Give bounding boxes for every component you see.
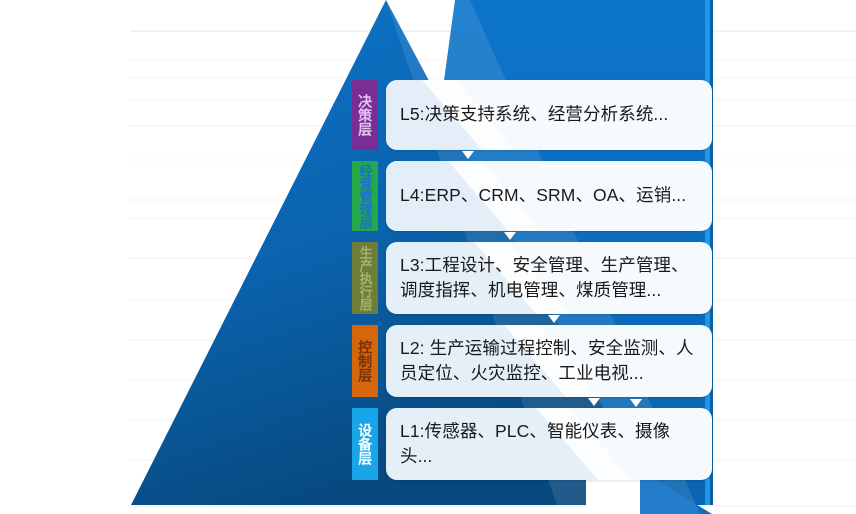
layer-card-l5[interactable]: L5:决策支持系统、经营分析系统... (386, 80, 712, 150)
layer-row-l5[interactable]: 决策层 L5:决策支持系统、经营分析系统... (352, 80, 716, 150)
layer-row-l1[interactable]: 设备层 L1:传感器、PLC、智能仪表、摄像头... (352, 408, 716, 480)
layer-card-l3[interactable]: L3:工程设计、安全管理、生产管理、调度指挥、机电管理、煤质管理... (386, 242, 712, 314)
layer-stack: 决策层 L5:决策支持系统、经营分析系统... 经营管理层 L4:ERP、CRM… (0, 0, 856, 514)
layer-card-l4[interactable]: L4:ERP、CRM、SRM、OA、运销... (386, 161, 712, 231)
layer-text-l3: L3:工程设计、安全管理、生产管理、调度指挥、机电管理、煤质管理... (386, 253, 712, 304)
layer-text-l1: L1:传感器、PLC、智能仪表、摄像头... (386, 419, 712, 470)
layer-tag-l4: 经营管理层 (352, 161, 378, 231)
layer-text-l2: L2: 生产运输过程控制、安全监测、人员定位、火灾监控、工业电视... (386, 336, 712, 387)
layer-text-l4: L4:ERP、CRM、SRM、OA、运销... (386, 183, 700, 208)
layer-notch-l2 (588, 398, 600, 406)
layer-tag-l5: 决策层 (352, 80, 378, 150)
layer-row-l3[interactable]: 生产执行层 L3:工程设计、安全管理、生产管理、调度指挥、机电管理、煤质管理..… (352, 242, 716, 314)
layer-notch-l1 (630, 399, 642, 407)
pyramid-diagram: 决策层 L5:决策支持系统、经营分析系统... 经营管理层 L4:ERP、CRM… (0, 0, 856, 514)
layer-tag-l1: 设备层 (352, 408, 378, 480)
layer-notch-l3 (548, 315, 560, 323)
layer-tag-l3: 生产执行层 (352, 242, 378, 314)
layer-notch-l4 (504, 232, 516, 240)
layer-text-l5: L5:决策支持系统、经营分析系统... (386, 102, 682, 127)
layer-card-l2[interactable]: L2: 生产运输过程控制、安全监测、人员定位、火灾监控、工业电视... (386, 325, 712, 397)
layer-tag-l2: 控制层 (352, 325, 378, 397)
layer-notch-l5 (462, 151, 474, 159)
layer-row-l2[interactable]: 控制层 L2: 生产运输过程控制、安全监测、人员定位、火灾监控、工业电视... (352, 325, 716, 397)
layer-row-l4[interactable]: 经营管理层 L4:ERP、CRM、SRM、OA、运销... (352, 161, 716, 231)
layer-card-l1[interactable]: L1:传感器、PLC、智能仪表、摄像头... (386, 408, 712, 480)
